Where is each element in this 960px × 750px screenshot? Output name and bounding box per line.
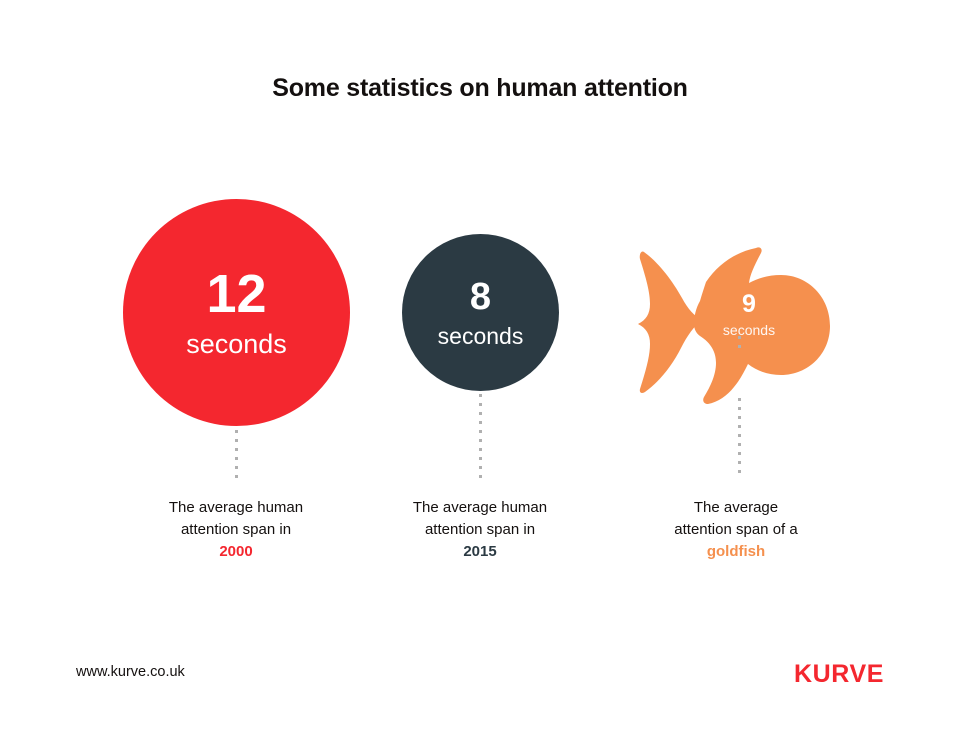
stat-value-2000: 12 — [206, 267, 266, 321]
infographic-canvas: Some statistics on human attention 12 se… — [0, 0, 960, 750]
stat-goldfish: 9 seconds — [636, 246, 832, 404]
stat-value-2015: 8 — [470, 278, 491, 316]
kurve-logo: KURVE — [794, 660, 884, 689]
stat-circle-2015: 8 seconds — [402, 234, 559, 391]
page-title: Some statistics on human attention — [0, 74, 960, 103]
stat-unit-2000: seconds — [186, 331, 287, 358]
caption-goldfish-line1: The average — [694, 499, 778, 516]
stat-value-goldfish: 9 — [666, 292, 832, 317]
caption-2000-highlight: 2000 — [219, 543, 252, 560]
stat-unit-goldfish: seconds — [666, 323, 832, 337]
caption-2015-line1: The average human — [413, 499, 547, 516]
stat-circle-2000: 12 seconds — [123, 199, 350, 426]
connector-line-2000 — [235, 430, 238, 478]
connector-line-goldfish-upper — [738, 336, 741, 350]
caption-2015-line2: attention span in — [425, 521, 535, 538]
caption-2000: The average human attention span in 2000 — [121, 497, 351, 563]
caption-goldfish-highlight: goldfish — [707, 543, 765, 560]
stat-unit-2015: seconds — [438, 325, 524, 348]
caption-2000-line1: The average human — [169, 499, 303, 516]
caption-2015-highlight: 2015 — [463, 543, 496, 560]
goldfish-text-block: 9 seconds — [636, 292, 832, 337]
caption-2000-line2: attention span in — [181, 521, 291, 538]
connector-line-2015 — [479, 394, 482, 478]
caption-goldfish-line2: attention span of a — [674, 521, 797, 538]
connector-line-goldfish-lower — [738, 398, 741, 478]
site-url[interactable]: www.kurve.co.uk — [76, 664, 185, 680]
caption-goldfish: The average attention span of a goldfish — [621, 497, 851, 563]
caption-2015: The average human attention span in 2015 — [365, 497, 595, 563]
